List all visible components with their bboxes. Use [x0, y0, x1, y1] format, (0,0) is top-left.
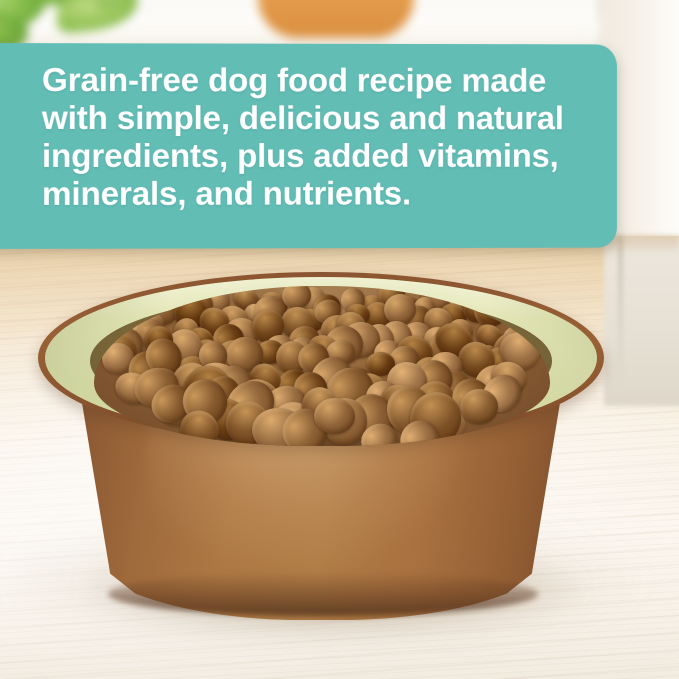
wall-plane-right: [604, 236, 679, 406]
banner-text-block: Grain-free dog food recipe made with sim…: [42, 62, 600, 214]
leaf-icon: [54, 0, 140, 34]
terracotta-pot: [258, 0, 414, 38]
banner-line-1: Grain-free dog food recipe made: [42, 62, 600, 100]
dog-bowl: [38, 272, 604, 620]
bowl-base-shade: [108, 572, 538, 616]
banner-line-4: minerals, and nutrients.: [42, 176, 600, 214]
banner-line-2: with simple, delicious and natural: [42, 100, 600, 138]
kibble-pile: [94, 286, 550, 446]
banner-line-3: ingredients, plus added vitamins,: [42, 138, 600, 176]
product-image: Grain-free dog food recipe made with sim…: [0, 0, 679, 679]
wall-seam-line: [618, 236, 623, 386]
marketing-banner: Grain-free dog food recipe made with sim…: [0, 43, 617, 249]
